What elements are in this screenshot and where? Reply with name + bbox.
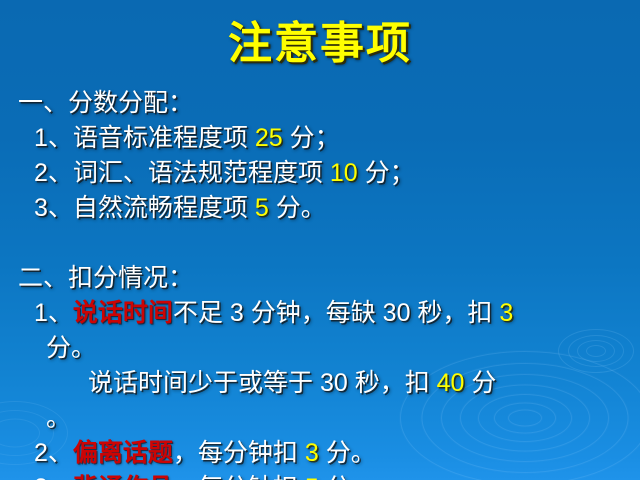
text-segment: 分； bbox=[283, 124, 340, 152]
score-value: 10 bbox=[330, 159, 358, 187]
text-segment: 1、语音标准程度项 bbox=[34, 124, 255, 152]
text-line: 2、词汇、语法规范程度项 10 分； bbox=[18, 156, 632, 191]
spacer-line bbox=[18, 226, 632, 261]
text-segment: 分。 bbox=[269, 194, 326, 222]
score-value: 5 bbox=[305, 474, 319, 480]
text-segment: 分 bbox=[464, 369, 496, 397]
text-line: 说话时间少于或等于 30 秒，扣 40 分 bbox=[18, 366, 632, 401]
text-segment: 不足 3 分钟，每缺 30 秒，扣 bbox=[173, 299, 499, 327]
highlighted-term: 说话时间 bbox=[73, 299, 173, 327]
text-segment: 分。 bbox=[46, 334, 96, 362]
highlighted-term: 背诵作品 bbox=[73, 474, 173, 480]
slide-body-content: 一、分数分配：1、语音标准程度项 25 分；2、词汇、语法规范程度项 10 分；… bbox=[18, 86, 632, 480]
slide-title: 注意事项 bbox=[0, 18, 640, 70]
text-segment: 分； bbox=[358, 159, 415, 187]
text-segment: 2、词汇、语法规范程度项 bbox=[34, 159, 330, 187]
text-line: 3、自然流畅程度项 5 分。 bbox=[18, 191, 632, 226]
text-segment: ，每分钟扣 bbox=[173, 474, 305, 480]
presentation-slide: 注意事项 一、分数分配：1、语音标准程度项 25 分；2、词汇、语法规范程度项 … bbox=[0, 0, 640, 480]
text-line: 二、扣分情况： bbox=[18, 261, 632, 296]
text-segment: 分。 bbox=[319, 439, 376, 467]
score-value: 3 bbox=[499, 299, 513, 327]
text-segment: 2、 bbox=[34, 439, 73, 467]
text-line: 分。 bbox=[18, 331, 632, 366]
text-line: 2、偏离话题，每分钟扣 3 分。 bbox=[18, 436, 632, 471]
highlighted-term: 偏离话题 bbox=[73, 439, 173, 467]
score-value: 5 bbox=[255, 194, 269, 222]
text-line: 1、说话时间不足 3 分钟，每缺 30 秒，扣 3 bbox=[18, 296, 632, 331]
text-segment: 一、分数分配： bbox=[18, 89, 193, 117]
text-segment: 说话时间少于或等于 30 秒，扣 bbox=[88, 369, 437, 397]
text-segment: 3、自然流畅程度项 bbox=[34, 194, 255, 222]
text-segment: 3、 bbox=[34, 474, 73, 480]
text-line: 3、背诵作品，每分钟扣 5 分。 bbox=[18, 471, 632, 480]
text-segment: 1、 bbox=[34, 299, 73, 327]
score-value: 25 bbox=[255, 124, 283, 152]
text-line: 1、语音标准程度项 25 分； bbox=[18, 121, 632, 156]
text-line: 。 bbox=[18, 401, 632, 436]
text-segment: ，每分钟扣 bbox=[173, 439, 305, 467]
score-value: 40 bbox=[437, 369, 465, 397]
text-segment: 分。 bbox=[319, 474, 376, 480]
score-value: 3 bbox=[305, 439, 319, 467]
text-segment: 二、扣分情况： bbox=[18, 264, 193, 292]
text-segment: 。 bbox=[46, 404, 71, 432]
text-line: 一、分数分配： bbox=[18, 86, 632, 121]
